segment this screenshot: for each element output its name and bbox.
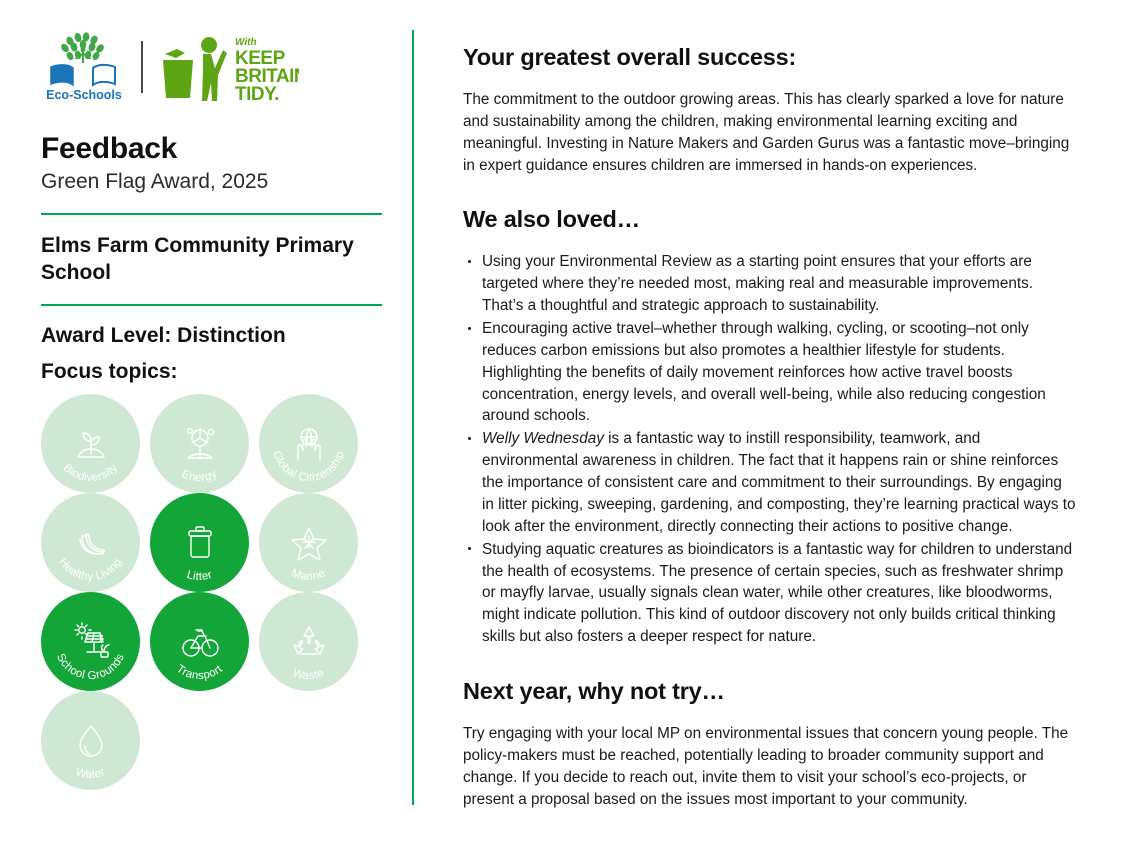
logo-row: Eco-Schools With KEEP BRITAIN TIDY. [41,28,376,106]
topic-label-arc: Global Citizenship [259,394,358,493]
topic-global-citizenship[interactable]: Global Citizenship [259,394,358,493]
sidebar: Eco-Schools With KEEP BRITAIN TIDY. F [0,0,412,844]
topic-water[interactable]: Water [41,691,140,790]
page-title: Feedback [41,132,376,165]
topic-label-arc: Waste [259,592,358,691]
focus-topics-grid: BiodiversityEnergyGlobal CitizenshipHeal… [41,394,371,790]
svg-text:Marine: Marine [290,567,328,583]
heading-we-also-loved: We also loved… [463,206,1077,233]
topic-label-arc: School Grounds [41,592,140,691]
svg-text:School Grounds: School Grounds [54,652,127,682]
focus-topics-label: Focus topics: [41,360,376,384]
topic-litter[interactable]: Litter [150,493,249,592]
loved-bullet-item: Welly Wednesday is a fantastic way to in… [463,428,1077,537]
kbt-with-text: With [235,37,257,48]
topic-label-arc: Biodiversity [41,394,140,493]
loved-bullet-item: Using your Environmental Review as a sta… [463,251,1077,317]
topic-row: Healthy LivingLitterMarine [41,493,371,592]
eco-schools-logo: Eco-Schools [41,31,127,103]
award-level: Award Level: Distinction [41,324,376,348]
divider-mid [41,304,382,306]
topic-marine[interactable]: Marine [259,493,358,592]
topic-label-arc: Marine [259,493,358,592]
topic-waste[interactable]: Waste [259,592,358,691]
topic-label-arc: Energy [150,394,249,493]
we-also-loved-list: Using your Environmental Review as a sta… [463,251,1077,647]
svg-text:Global Citizenship: Global Citizenship [270,449,347,484]
logo-divider [141,41,143,93]
topic-label-arc: Litter [150,493,249,592]
svg-text:Transport: Transport [174,663,225,682]
svg-text:Energy: Energy [180,468,219,484]
eco-schools-wordmark: Eco-Schools [46,88,122,102]
bullet-italic-lead: Welly Wednesday [482,430,604,447]
topic-row: School GroundsTransportWaste [41,592,371,691]
topic-healthy-living[interactable]: Healthy Living [41,493,140,592]
divider-top [41,213,382,215]
topic-biodiversity[interactable]: Biodiversity [41,394,140,493]
heading-next-year: Next year, why not try… [463,678,1077,705]
feedback-page: Eco-Schools With KEEP BRITAIN TIDY. F [0,0,1134,844]
topic-row: BiodiversityEnergyGlobal Citizenship [41,394,371,493]
loved-bullet-item: Studying aquatic creatures as bioindicat… [463,539,1077,648]
kbt-line-tidy: TIDY. [235,84,279,102]
paragraph-greatest-success: The commitment to the outdoor growing ar… [463,89,1077,176]
topic-energy[interactable]: Energy [150,394,249,493]
main-content: Your greatest overall success: The commi… [463,44,1077,810]
school-name: Elms Farm Community Primary School [41,233,376,287]
svg-text:Litter: Litter [185,569,214,583]
column-divider [412,30,414,805]
topic-label-arc: Water [41,691,140,790]
award-subtitle: Green Flag Award, 2025 [41,169,376,195]
topic-label-arc: Transport [150,592,249,691]
loved-bullet-item: Encouraging active travel–whether throug… [463,318,1077,427]
topic-transport[interactable]: Transport [150,592,249,691]
svg-text:Healthy Living: Healthy Living [56,556,124,583]
keep-britain-tidy-logo: With KEEP BRITAIN TIDY. [159,32,299,102]
svg-text:Waste: Waste [291,667,326,682]
heading-greatest-success: Your greatest overall success: [463,44,1077,71]
svg-text:Water: Water [74,766,107,781]
topic-school-grounds[interactable]: School Grounds [41,592,140,691]
topic-row: Water [41,691,371,790]
topic-label-arc: Healthy Living [41,493,140,592]
svg-text:Biodiversity: Biodiversity [61,462,120,484]
paragraph-next-year: Try engaging with your local MP on envir… [463,723,1077,810]
